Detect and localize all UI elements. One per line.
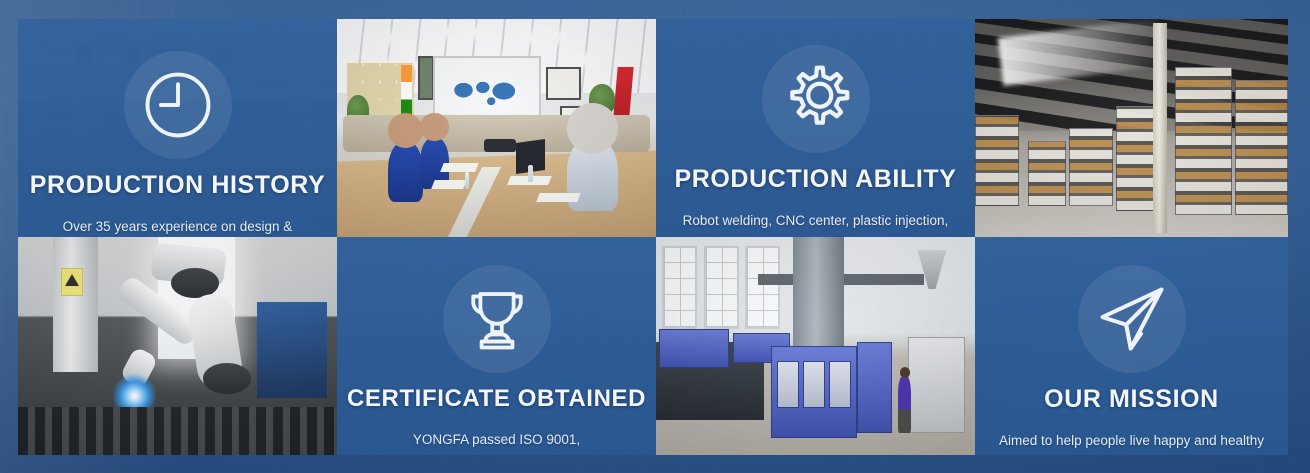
clock-icon-container <box>118 45 238 165</box>
machine-control-panel <box>857 342 892 434</box>
water-bottle-2 <box>528 165 533 182</box>
meeting-room-illustration <box>337 19 656 237</box>
robot-joint-lower <box>203 363 251 394</box>
control-cabinet <box>908 337 965 433</box>
water-bottle-1 <box>465 172 470 189</box>
panel-heading: CERTIFICATE OBTAINED <box>347 385 646 413</box>
storage-rack-5 <box>1175 67 1231 215</box>
panel-heading: OUR MISSION <box>1044 385 1219 414</box>
warning-sign <box>61 268 83 296</box>
gear-icon-container <box>756 39 876 159</box>
clock-icon <box>139 66 217 144</box>
support-pillar <box>1153 23 1166 232</box>
papers-2 <box>431 180 466 189</box>
panel-heading: PRODUCTION ABILITY <box>674 165 956 194</box>
wall-art-calligraphy <box>546 67 581 100</box>
window-2 <box>704 246 739 329</box>
photo-warehouse <box>975 19 1288 237</box>
person-left-1 <box>388 141 423 202</box>
papers-1 <box>441 163 480 172</box>
panel-body: Robot welding, CNC center, plastic injec… <box>674 209 957 237</box>
flag-india <box>401 65 412 117</box>
panel-production-ability[interactable]: PRODUCTION ABILITY Robot welding, CNC ce… <box>656 19 975 237</box>
factory-worker <box>898 377 911 434</box>
panel-body: Aimed to help people live happy and heal… <box>993 429 1270 455</box>
window-3 <box>745 246 780 329</box>
injection-machine-left <box>659 329 729 368</box>
panel-production-history[interactable]: PRODUCTION HISTORY Over 35 years experie… <box>18 19 337 237</box>
papers-4 <box>536 193 581 202</box>
window-1 <box>662 246 697 329</box>
storage-rack-6 <box>1235 80 1288 215</box>
concrete-column <box>53 237 98 372</box>
photo-meeting-room <box>337 19 656 237</box>
panel-certificate-obtained[interactable]: CERTIFICATE OBTAINED YONGFA passed ISO 9… <box>337 237 656 455</box>
storage-rack-3 <box>1069 128 1113 206</box>
welding-controller-cabinet <box>257 302 327 398</box>
company-highlights-banner: PRODUCTION HISTORY Over 35 years experie… <box>0 0 1310 473</box>
projector <box>484 139 516 152</box>
conveyor-rollers <box>18 407 337 455</box>
paper-plane-icon <box>1091 278 1173 360</box>
robot-welding-illustration <box>18 237 337 455</box>
gear-icon <box>776 59 856 139</box>
panel-our-mission[interactable]: OUR MISSION Aimed to help people live ha… <box>975 237 1288 455</box>
warehouse-illustration <box>975 19 1288 237</box>
blow-molding-machine-main <box>771 346 857 438</box>
paper-plane-icon-container <box>1072 259 1192 379</box>
photo-blow-molding <box>656 237 975 455</box>
photo-robot-welding <box>18 237 337 455</box>
panel-body: YONGFA passed ISO 9001, ISO13485/14001/1… <box>355 428 638 455</box>
table-runner <box>448 167 501 237</box>
extruder-tower <box>793 237 844 350</box>
panel-body: Over 35 years experience on design & Pro… <box>36 215 319 237</box>
panel-heading: PRODUCTION HISTORY <box>30 171 326 200</box>
highlights-grid: PRODUCTION HISTORY Over 35 years experie… <box>18 19 1288 455</box>
storage-rack-2 <box>1028 141 1066 206</box>
blow-molding-illustration <box>656 237 975 455</box>
storage-rack-4 <box>1116 106 1157 211</box>
trophy-icon-container <box>437 259 557 379</box>
trophy-icon <box>459 281 535 357</box>
storage-rack-1 <box>975 115 1019 207</box>
